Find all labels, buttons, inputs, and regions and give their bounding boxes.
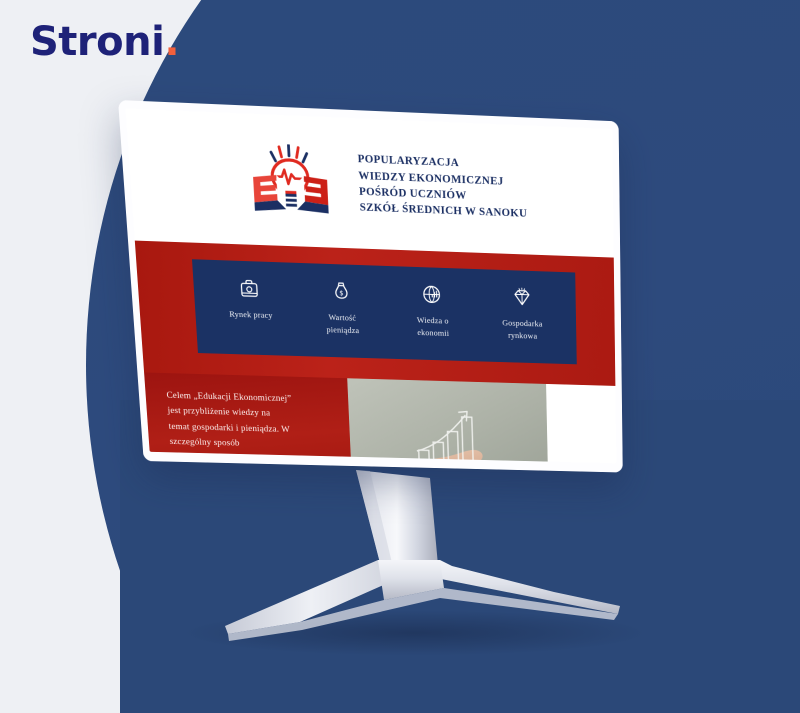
- feature-card-label: Wartość pieniądza: [326, 311, 360, 337]
- feature-card-label: Rynek pracy: [229, 308, 273, 322]
- feature-card-label-line2: ekonomii: [417, 326, 449, 339]
- briefcase-icon: [237, 276, 261, 300]
- photo-illustration: [347, 378, 548, 463]
- brand-accent-dot: .: [164, 19, 179, 65]
- feature-card-label-line2: rynkowa: [502, 329, 542, 342]
- website-screen: POPULARYZACJA WIEDZY EKONOMICZNEJ POŚRÓD…: [125, 108, 616, 463]
- feature-card-label-line1: Rynek pracy: [229, 308, 273, 322]
- diamond-icon: [510, 286, 533, 310]
- header-title: POPULARYZACJA WIEDZY EKONOMICZNEJ POŚRÓD…: [357, 152, 527, 223]
- globe-chart-icon: [420, 283, 443, 307]
- feature-card-label-line1: Wartość: [326, 311, 359, 324]
- mission-quote-panel: Celem „Edukacji Ekonomicznej” jest przyb…: [144, 372, 352, 463]
- mission-quote-text: Celem „Edukacji Ekonomicznej” jest przyb…: [166, 388, 335, 463]
- feature-card-strip: Rynek pracy $ Wartość pieniądza: [192, 259, 577, 364]
- brand-logo: Stroni.: [30, 22, 179, 62]
- content-row: Celem „Edukacji Ekonomicznej” jest przyb…: [144, 372, 616, 463]
- lightbulb-open-book-logo: [247, 143, 334, 220]
- feature-card-rynek-pracy[interactable]: Rynek pracy: [203, 275, 298, 335]
- feature-card-gospodarka-rynkowa[interactable]: Gospodarka rynkowa: [477, 284, 568, 343]
- red-banner: Rynek pracy $ Wartość pieniądza: [135, 241, 616, 386]
- feature-card-label-line2: pieniądza: [326, 323, 359, 336]
- feature-card-wartosc-pieniadza[interactable]: $ Wartość pieniądza: [295, 278, 389, 337]
- feature-card-label-line1: Wiedza o: [417, 314, 449, 327]
- brand-name: Stroni: [30, 19, 164, 65]
- hand-holding-growth-chart-photo: [347, 378, 548, 463]
- site-header: POPULARYZACJA WIEDZY EKONOMICZNEJ POŚRÓD…: [125, 108, 613, 257]
- content-white-filler: [546, 384, 616, 464]
- money-bag-icon: $: [329, 279, 353, 303]
- feature-card-label: Wiedza o ekonomii: [417, 314, 450, 340]
- feature-card-wiedza-o-ekonomii[interactable]: Wiedza o ekonomii: [386, 281, 478, 340]
- feature-card-label: Gospodarka rynkowa: [502, 317, 543, 343]
- monitor-bezel: POPULARYZACJA WIEDZY EKONOMICZNEJ POŚRÓD…: [118, 100, 623, 473]
- poster-canvas: Stroni.: [0, 0, 800, 713]
- feature-card-label-line1: Gospodarka: [502, 317, 543, 330]
- svg-text:$: $: [339, 288, 344, 297]
